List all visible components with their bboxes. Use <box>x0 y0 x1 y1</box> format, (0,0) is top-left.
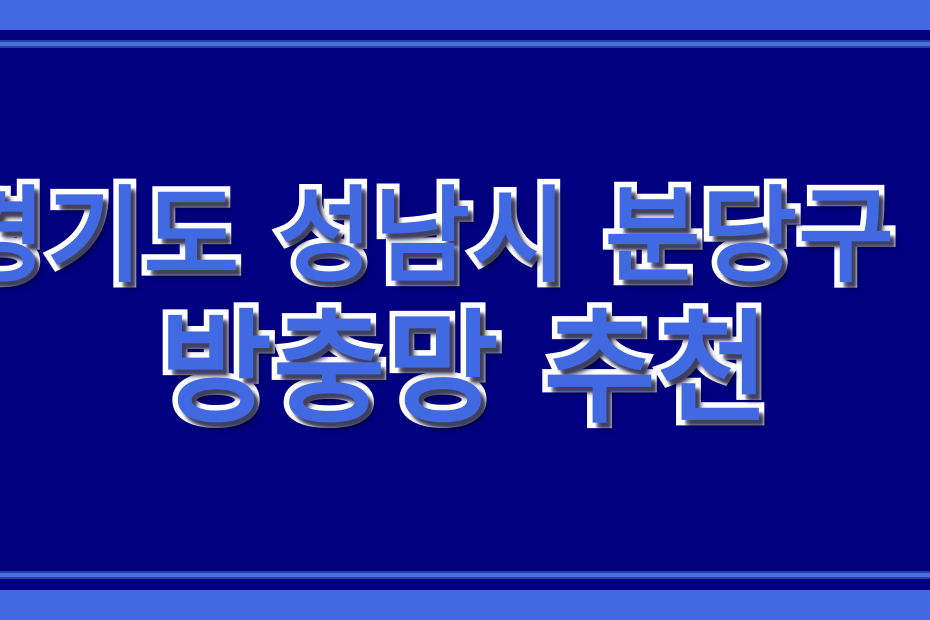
banner-title-block: 경기도 성남시 분당구 구미동 방충망 추천 <box>0 0 930 620</box>
promo-banner: 경기도 성남시 분당구 구미동 방충망 추천 <box>0 0 930 620</box>
banner-title-line-1: 경기도 성남시 분당구 구미동 <box>0 184 930 288</box>
bottom-accent-band <box>0 590 930 620</box>
bottom-divider-line <box>0 573 930 577</box>
banner-title-line-2: 방충망 추천 <box>160 308 771 430</box>
